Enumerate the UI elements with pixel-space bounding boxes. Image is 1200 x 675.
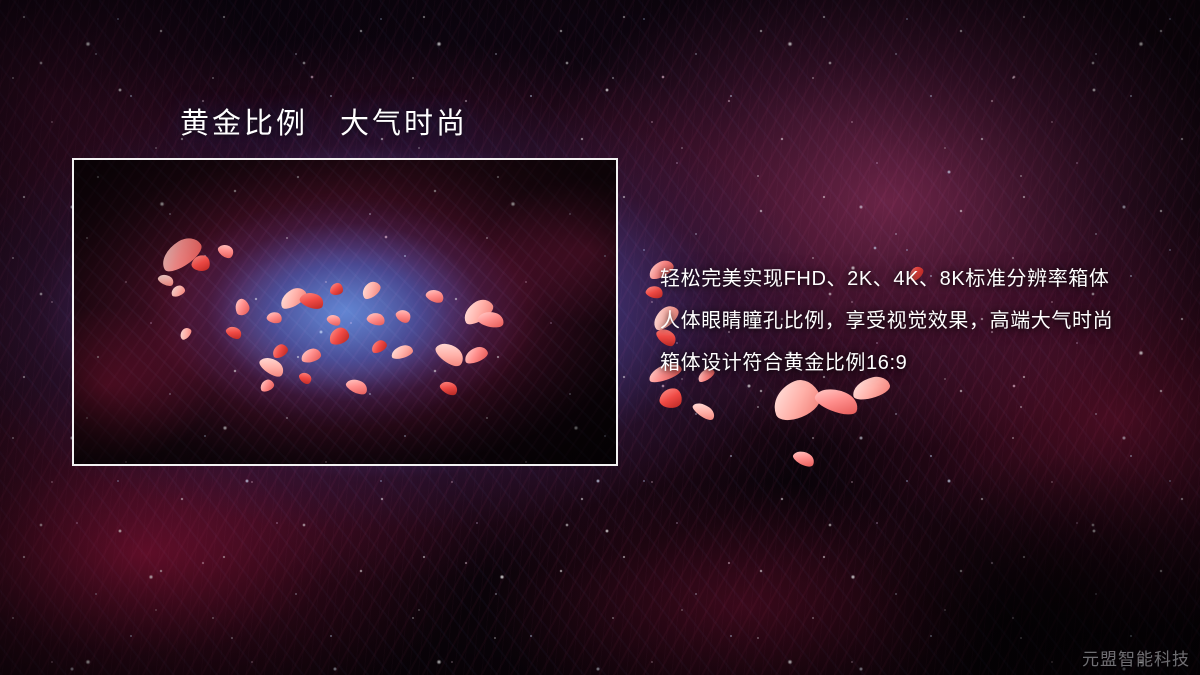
frame-vignette [74,160,616,464]
body-copy: 轻松完美实现FHD、2K、4K、8K标准分辨率箱体 人体眼睛瞳孔比例，享受视觉效… [660,258,1170,384]
framed-image[interactable] [72,158,618,466]
copy-line-2: 人体眼睛瞳孔比例，享受视觉效果，高端大气时尚 [660,300,1170,342]
watermark: 元盟智能科技 [1082,645,1190,670]
page-title: 黄金比例 大气时尚 [180,100,468,142]
copy-line-3: 箱体设计符合黄金比例16:9 [660,342,1170,384]
copy-line-1: 轻松完美实现FHD、2K、4K、8K标准分辨率箱体 [660,258,1170,300]
presentation-slide: 黄金比例 大气时尚 轻松完美实现FHD、2K、4K、8K标准分辨率箱体 人体眼睛… [0,0,1200,675]
